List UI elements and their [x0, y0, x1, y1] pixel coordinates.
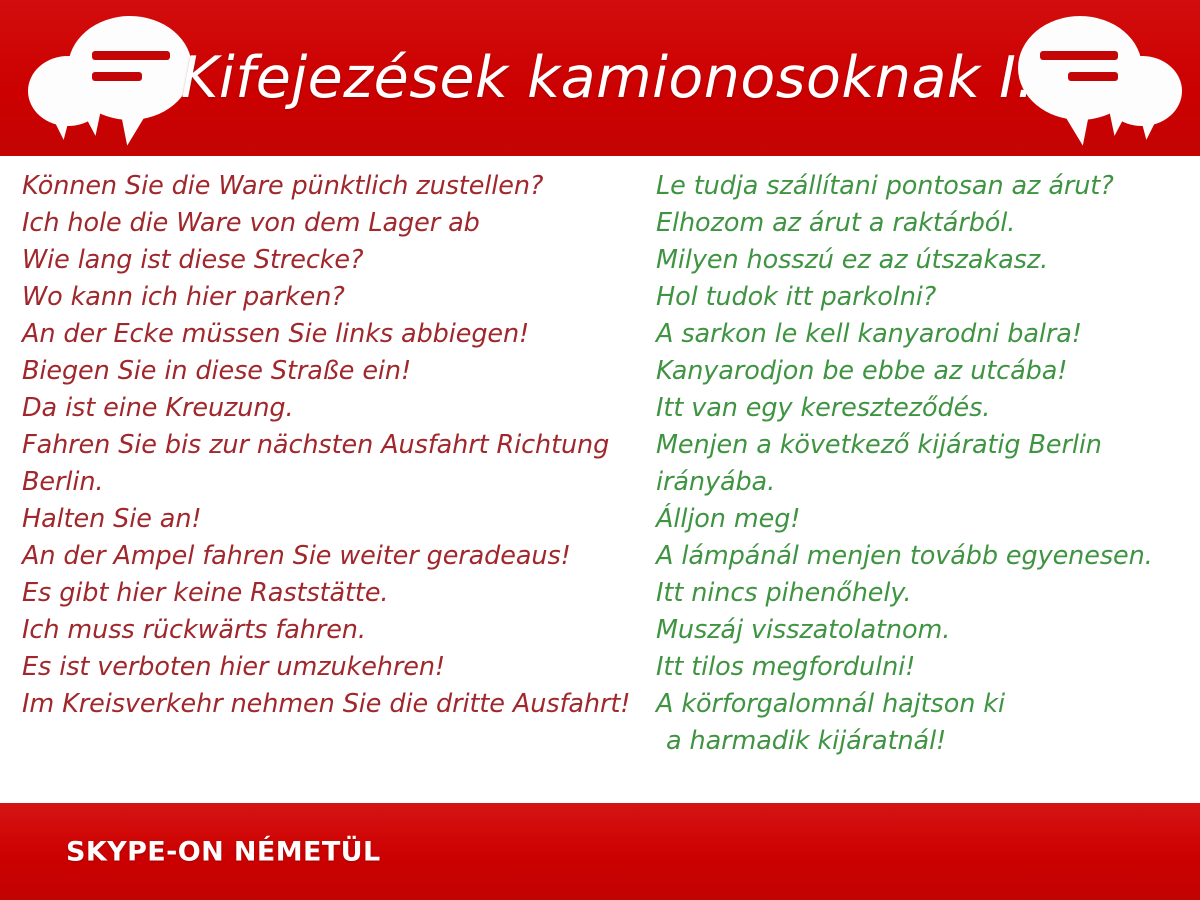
- speech-bubble-text-line-1: [1040, 51, 1118, 60]
- phrase-line: An der Ecke müssen Sie links abbiegen!: [22, 316, 652, 353]
- phrase-line: Elhozom az árut a raktárból.: [656, 205, 1196, 242]
- phrase-line: Ich hole die Ware von dem Lager ab: [22, 205, 652, 242]
- phrase-panel: Können Sie die Ware pünktlich zustellen?…: [0, 156, 1200, 803]
- phrase-line: irányába.: [656, 464, 1196, 501]
- phrase-line: a harmadik kijáratnál!: [656, 723, 1196, 760]
- phrase-line: Berlin.: [22, 464, 652, 501]
- phrase-line: Hol tudok itt parkolni?: [656, 279, 1196, 316]
- footer-bar: SKYPE-ON NÉMETÜL: [0, 803, 1200, 900]
- phrase-line: A körforgalomnál hajtson ki: [656, 686, 1196, 723]
- phrase-line: Biegen Sie in diese Straße ein!: [22, 353, 652, 390]
- phrase-line: Le tudja szállítani pontosan az árut?: [656, 168, 1196, 205]
- footer-brand-label: SKYPE-ON NÉMETÜL: [66, 836, 381, 867]
- hungarian-phrase-column: Le tudja szállítani pontosan az árut?Elh…: [656, 168, 1196, 760]
- speech-bubble-text-line-2: [1068, 72, 1118, 81]
- phrase-line: Muszáj visszatolatnom.: [656, 612, 1196, 649]
- phrase-line: Itt tilos megfordulni!: [656, 649, 1196, 686]
- speech-bubbles-icon-right: [994, 14, 1184, 146]
- phrase-line: Kanyarodjon be ebbe az utcába!: [656, 353, 1196, 390]
- phrase-line: Itt nincs pihenőhely.: [656, 575, 1196, 612]
- german-phrase-column: Können Sie die Ware pünktlich zustellen?…: [22, 168, 652, 723]
- phrase-line: A sarkon le kell kanyarodni balra!: [656, 316, 1196, 353]
- phrase-line: Da ist eine Kreuzung.: [22, 390, 652, 427]
- phrase-line: Es gibt hier keine Raststätte.: [22, 575, 652, 612]
- poster-root: Kifejezések kamionosoknak I. Können Sie …: [0, 0, 1200, 900]
- phrase-line: Álljon meg!: [656, 501, 1196, 538]
- phrase-line: Wie lang ist diese Strecke?: [22, 242, 652, 279]
- phrase-line: Im Kreisverkehr nehmen Sie die dritte Au…: [22, 686, 652, 723]
- phrase-line: A lámpánál menjen tovább egyenesen.: [656, 538, 1196, 575]
- speech-bubble-small-tail: [1134, 107, 1161, 141]
- phrase-line: Es ist verboten hier umzukehren!: [22, 649, 652, 686]
- phrase-line: An der Ampel fahren Sie weiter geradeaus…: [22, 538, 652, 575]
- phrase-line: Milyen hosszú ez az útszakasz.: [656, 242, 1196, 279]
- phrase-line: Halten Sie an!: [22, 501, 652, 538]
- phrase-line: Fahren Sie bis zur nächsten Ausfahrt Ric…: [22, 427, 652, 464]
- phrase-line: Menjen a következő kijáratig Berlin: [656, 427, 1196, 464]
- phrase-line: Itt van egy kereszteződés.: [656, 390, 1196, 427]
- speech-bubble-large-tail-right: [1058, 99, 1099, 148]
- phrase-line: Können Sie die Ware pünktlich zustellen?: [22, 168, 652, 205]
- phrase-line: Wo kann ich hier parken?: [22, 279, 652, 316]
- speech-bubble-large-tail-left: [1102, 98, 1133, 137]
- header-bar: Kifejezések kamionosoknak I.: [0, 0, 1200, 156]
- phrase-line: Ich muss rückwärts fahren.: [22, 612, 652, 649]
